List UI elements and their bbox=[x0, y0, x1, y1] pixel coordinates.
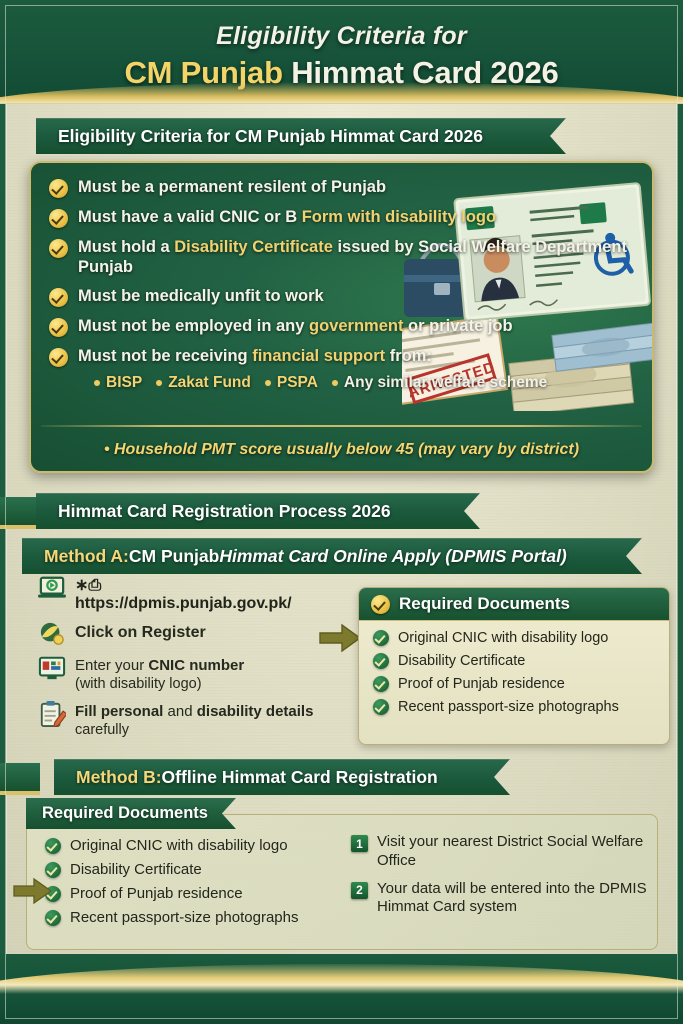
link-page-icon: ∗⎙ bbox=[75, 577, 101, 594]
infographic-poster: Eligibility Criteria for CM Punjab Himma… bbox=[0, 0, 683, 1024]
eligibility-item: Must not be receiving financial support … bbox=[49, 346, 652, 367]
method-a-banner-ribbon: Method A: CM Punjab Himmat Card Online A… bbox=[22, 538, 642, 574]
method-a-steps: ∗⎙ https://dpmis.punjab.gov.pk/ Click on… bbox=[22, 575, 322, 748]
eligibility-item: Must have a valid CNIC or B Form with di… bbox=[49, 207, 652, 228]
method-b-panel: Original CNIC with disability logo Disab… bbox=[26, 814, 658, 950]
method-a-title-italic: Himmat Card Online Apply (DPMIS Portal) bbox=[219, 546, 566, 567]
method-b-steps: 1 Visit your nearest District Social Wel… bbox=[345, 815, 657, 949]
method-b-step-text: Visit your nearest District Social Welfa… bbox=[377, 833, 647, 871]
method-b-banner: Method B: Offline Himmat Card Registrati… bbox=[0, 759, 510, 795]
method-b-required-documents-heading: Required Documents bbox=[26, 798, 236, 829]
eligibility-item: Must be medically unfit to work bbox=[49, 286, 652, 307]
ribbon-left-tab bbox=[0, 763, 40, 795]
method-a-step: Click on Register bbox=[38, 621, 322, 647]
method-a-required-documents-panel: Required Documents Original CNIC with di… bbox=[358, 587, 670, 745]
list-item: Proof of Punjab residence bbox=[373, 676, 669, 692]
step-sublabel: carefully bbox=[75, 722, 129, 738]
eligibility-item-text: Must not be receiving financial support … bbox=[78, 346, 432, 366]
portal-url[interactable]: ∗⎙ https://dpmis.punjab.gov.pk/ bbox=[75, 575, 322, 613]
ribbon-left-tab bbox=[0, 497, 40, 529]
right-arrow-icon bbox=[13, 877, 53, 905]
list-item-label: Disability Certificate bbox=[70, 861, 202, 878]
excluded-schemes-list: BISP Zakat Fund PSPA Any similar welfare… bbox=[94, 374, 652, 392]
method-b-step: 1 Visit your nearest District Social Wel… bbox=[351, 833, 647, 871]
method-b-banner-ribbon: Method B: Offline Himmat Card Registrati… bbox=[54, 759, 510, 795]
bullet-dot-icon bbox=[156, 380, 162, 386]
list-item-label: Proof of Punjab residence bbox=[398, 676, 565, 692]
check-circle-icon bbox=[49, 179, 68, 198]
eligibility-item-post: from: bbox=[385, 347, 432, 365]
process-banner-ribbon: Himmat Card Registration Process 2026 bbox=[36, 493, 480, 529]
eligibility-banner-label: Eligibility Criteria for CM Punjab Himma… bbox=[58, 126, 483, 147]
eligibility-item-highlight: Disability Certificate bbox=[174, 238, 333, 256]
header-title-white: Himmat Card 2026 bbox=[291, 55, 558, 90]
eligibility-item-text: Must be a permanent resilent of Punjab bbox=[78, 177, 386, 197]
pmt-score-note: • Household PMT score usually below 45 (… bbox=[31, 441, 652, 459]
eligibility-item-post: or private job bbox=[403, 317, 512, 335]
check-circle-icon bbox=[373, 630, 389, 646]
eligibility-item-pre: Must be medically unfit to work bbox=[78, 287, 324, 305]
method-b-label: Method B: bbox=[76, 767, 162, 788]
process-banner-label: Himmat Card Registration Process 2026 bbox=[58, 501, 391, 522]
required-documents-list: Original CNIC with disability logo Disab… bbox=[359, 621, 669, 715]
list-item: Original CNIC with disability logo bbox=[373, 630, 669, 646]
scheme-label: Any similar welfare scheme bbox=[344, 374, 547, 392]
step-number-badge: 2 bbox=[351, 882, 368, 899]
eligibility-item-pre: Must hold a bbox=[78, 238, 174, 256]
method-a-title-plain: CM Punjab bbox=[129, 546, 219, 567]
page-title: CM Punjab Himmat Card 2026 bbox=[0, 55, 683, 91]
eligibility-item-highlight: Form with disability logo bbox=[302, 208, 496, 226]
check-circle-icon bbox=[373, 676, 389, 692]
eligibility-item-pre: Must be a permanent resilent of Punjab bbox=[78, 178, 386, 196]
method-a-banner: Method A: CM Punjab Himmat Card Online A… bbox=[0, 538, 642, 574]
list-item: Disability Certificate bbox=[45, 861, 345, 878]
click-cursor-icon bbox=[38, 621, 66, 647]
process-banner: Himmat Card Registration Process 2026 bbox=[0, 493, 480, 529]
method-a-step-text: Click on Register bbox=[75, 621, 206, 642]
step-number-badge: 1 bbox=[351, 835, 368, 852]
eligibility-item-text: Must have a valid CNIC or B Form with di… bbox=[78, 207, 496, 227]
scheme-label: PSPA bbox=[277, 374, 318, 392]
check-circle-icon bbox=[371, 595, 390, 614]
list-item: Disability Certificate bbox=[373, 653, 669, 669]
list-item-label: Recent passport-size photographs bbox=[70, 909, 298, 926]
list-item: Recent passport-size photographs bbox=[373, 699, 669, 715]
right-arrow-icon bbox=[318, 623, 362, 653]
method-b-content: Required Documents Original CNIC with di… bbox=[22, 798, 662, 950]
check-circle-icon bbox=[373, 699, 389, 715]
eligibility-item-pre: Must have a valid CNIC or B bbox=[78, 208, 302, 226]
scheme-bullet: Any similar welfare scheme bbox=[332, 374, 547, 392]
scheme-bullet: BISP bbox=[94, 374, 142, 392]
scheme-label: Zakat Fund bbox=[168, 374, 251, 392]
eligibility-item: Must be a permanent resilent of Punjab bbox=[49, 177, 652, 198]
eligibility-item-highlight: government bbox=[309, 317, 403, 335]
eligibility-item-text: Must be medically unfit to work bbox=[78, 286, 324, 306]
step-label-pre: Enter your bbox=[75, 657, 148, 674]
bullet-dot-icon bbox=[94, 380, 100, 386]
eligibility-item-pre: Must not be receiving bbox=[78, 347, 252, 365]
step-label: Click on Register bbox=[75, 624, 206, 641]
id-form-screen-icon bbox=[38, 655, 66, 681]
poster-header: Eligibility Criteria for CM Punjab Himma… bbox=[0, 0, 683, 104]
poster-footer bbox=[0, 954, 683, 1024]
list-item: Proof of Punjab residence bbox=[45, 885, 345, 902]
method-b-required-documents-heading-label: Required Documents bbox=[42, 804, 208, 823]
method-b-step: 2 Your data will be entered into the DPM… bbox=[351, 880, 647, 918]
eligibility-item-text: Must not be employed in any government o… bbox=[78, 316, 513, 336]
divider bbox=[41, 425, 642, 427]
step-label-mid: and bbox=[163, 703, 196, 720]
check-circle-icon bbox=[49, 288, 68, 307]
list-item: Original CNIC with disability logo bbox=[45, 837, 345, 854]
eligibility-item-pre: Must not be employed in any bbox=[78, 317, 309, 335]
check-circle-icon bbox=[45, 910, 61, 926]
header-title-gold: CM Punjab bbox=[124, 55, 282, 90]
check-circle-icon bbox=[49, 209, 68, 228]
list-item: Recent passport-size photographs bbox=[45, 909, 345, 926]
eligibility-item: Must hold a Disability Certificate issue… bbox=[49, 237, 652, 277]
bullet-dot-icon bbox=[332, 380, 338, 386]
check-circle-icon bbox=[49, 348, 68, 367]
eligibility-item: Must not be employed in any government o… bbox=[49, 316, 652, 337]
bullet-dot-icon bbox=[265, 380, 271, 386]
step-label-bold2: disability details bbox=[197, 703, 314, 720]
list-item-label: Original CNIC with disability logo bbox=[398, 630, 608, 646]
eligibility-banner: Eligibility Criteria for CM Punjab Himma… bbox=[36, 118, 566, 154]
method-b-required-documents-list: Original CNIC with disability logo Disab… bbox=[27, 815, 345, 949]
step-label-bold: Fill personal bbox=[75, 703, 163, 720]
scheme-bullet: PSPA bbox=[265, 374, 318, 392]
required-documents-heading: Required Documents bbox=[359, 588, 669, 621]
check-circle-icon bbox=[49, 318, 68, 337]
portal-url-text: https://dpmis.punjab.gov.pk/ bbox=[75, 595, 292, 612]
eligibility-item-highlight: financial support bbox=[252, 347, 385, 365]
method-a-label: Method A: bbox=[44, 546, 129, 567]
scheme-label: BISP bbox=[106, 374, 142, 392]
clipboard-pencil-icon bbox=[38, 701, 66, 727]
check-circle-icon bbox=[49, 239, 68, 258]
scheme-bullet: Zakat Fund bbox=[156, 374, 251, 392]
method-a-step: ∗⎙ https://dpmis.punjab.gov.pk/ bbox=[38, 575, 322, 613]
list-item-label: Disability Certificate bbox=[398, 653, 525, 669]
check-circle-icon bbox=[373, 653, 389, 669]
eligibility-card: ARRESTED bbox=[29, 161, 654, 473]
step-sublabel: (with disability logo) bbox=[75, 676, 202, 692]
method-a-step: Fill personal and disability details car… bbox=[38, 701, 322, 739]
eligibility-list: Must be a permanent resilent of Punjab M… bbox=[31, 163, 652, 392]
eligibility-banner-ribbon: Eligibility Criteria for CM Punjab Himma… bbox=[36, 118, 566, 154]
method-a-step-text: Enter your CNIC number (with disability … bbox=[75, 655, 244, 693]
eligibility-item-text: Must hold a Disability Certificate issue… bbox=[78, 237, 652, 277]
check-circle-icon bbox=[45, 862, 61, 878]
required-documents-heading-label: Required Documents bbox=[399, 594, 570, 614]
method-b-step-text: Your data will be entered into the DPMIS… bbox=[377, 880, 647, 918]
step-label-bold: CNIC number bbox=[148, 657, 244, 674]
laptop-browser-icon bbox=[38, 575, 66, 601]
header-subtitle: Eligibility Criteria for bbox=[0, 22, 683, 51]
check-circle-icon bbox=[45, 838, 61, 854]
list-item-label: Original CNIC with disability logo bbox=[70, 837, 288, 854]
method-a-step-text: Fill personal and disability details car… bbox=[75, 701, 313, 739]
list-item-label: Recent passport-size photographs bbox=[398, 699, 619, 715]
list-item-label: Proof of Punjab residence bbox=[70, 885, 243, 902]
method-a-step: Enter your CNIC number (with disability … bbox=[38, 655, 322, 693]
method-b-title: Offline Himmat Card Registration bbox=[162, 767, 438, 788]
